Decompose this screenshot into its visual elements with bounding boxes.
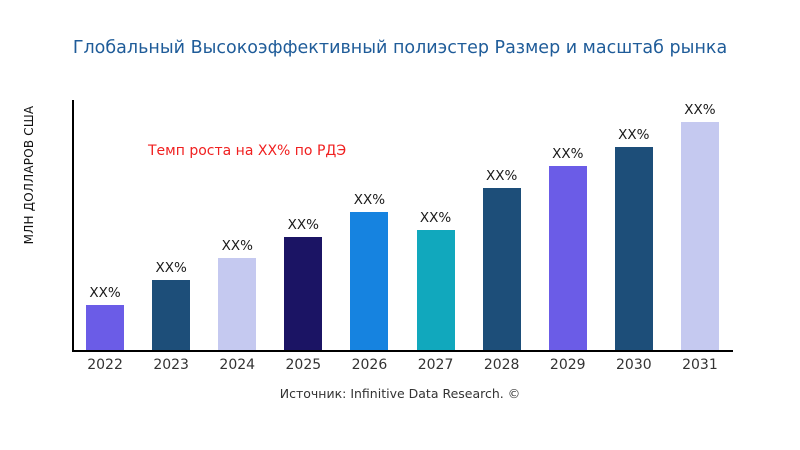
bar-2025[interactable]: XX% (284, 100, 322, 350)
bar-rect-2022[interactable] (86, 305, 124, 350)
bar-2022[interactable]: XX% (86, 100, 124, 350)
bar-rect-2031[interactable] (681, 122, 719, 350)
bar-rect-2030[interactable] (615, 147, 653, 350)
source-note: Источник: Infinitive Data Research. © (0, 386, 800, 401)
bar-value-label-2028: XX% (471, 168, 533, 184)
x-tick-label-2030: 2030 (599, 357, 669, 373)
bar-value-label-2027: XX% (405, 210, 467, 226)
bar-value-label-2022: XX% (74, 285, 136, 301)
bar-value-label-2031: XX% (669, 102, 731, 118)
x-axis-line (72, 350, 733, 352)
y-axis-title: МЛН ДОЛЛАРОВ США (22, 50, 44, 300)
bar-value-label-2030: XX% (603, 127, 665, 143)
x-tick-label-2031: 2031 (665, 357, 735, 373)
bar-rect-2027[interactable] (417, 230, 455, 350)
x-tick-label-2026: 2026 (334, 357, 404, 373)
chart-container: Глобальный Высокоэффективный полиэстер Р… (0, 0, 800, 450)
bar-value-label-2026: XX% (338, 192, 400, 208)
bar-rect-2026[interactable] (350, 212, 388, 350)
bar-rect-2028[interactable] (483, 188, 521, 350)
bar-2031[interactable]: XX% (681, 100, 719, 350)
x-tick-label-2023: 2023 (136, 357, 206, 373)
bar-2023[interactable]: XX% (152, 100, 190, 350)
bar-2030[interactable]: XX% (615, 100, 653, 350)
bar-value-label-2023: XX% (140, 260, 202, 276)
chart-title: Глобальный Высокоэффективный полиэстер Р… (0, 38, 800, 58)
x-tick-label-2022: 2022 (70, 357, 140, 373)
bar-rect-2025[interactable] (284, 237, 322, 350)
bar-rect-2023[interactable] (152, 280, 190, 350)
x-tick-label-2025: 2025 (268, 357, 338, 373)
bar-2028[interactable]: XX% (483, 100, 521, 350)
bar-value-label-2024: XX% (206, 238, 268, 254)
x-tick-label-2029: 2029 (533, 357, 603, 373)
bar-2024[interactable]: XX% (218, 100, 256, 350)
bar-rect-2024[interactable] (218, 258, 256, 350)
x-tick-label-2027: 2027 (401, 357, 471, 373)
bar-value-label-2025: XX% (272, 217, 334, 233)
bar-value-label-2029: XX% (537, 146, 599, 162)
bar-2026[interactable]: XX% (350, 100, 388, 350)
bar-2029[interactable]: XX% (549, 100, 587, 350)
bar-2027[interactable]: XX% (417, 100, 455, 350)
bar-rect-2029[interactable] (549, 166, 587, 350)
x-tick-label-2024: 2024 (202, 357, 272, 373)
x-tick-label-2028: 2028 (467, 357, 537, 373)
